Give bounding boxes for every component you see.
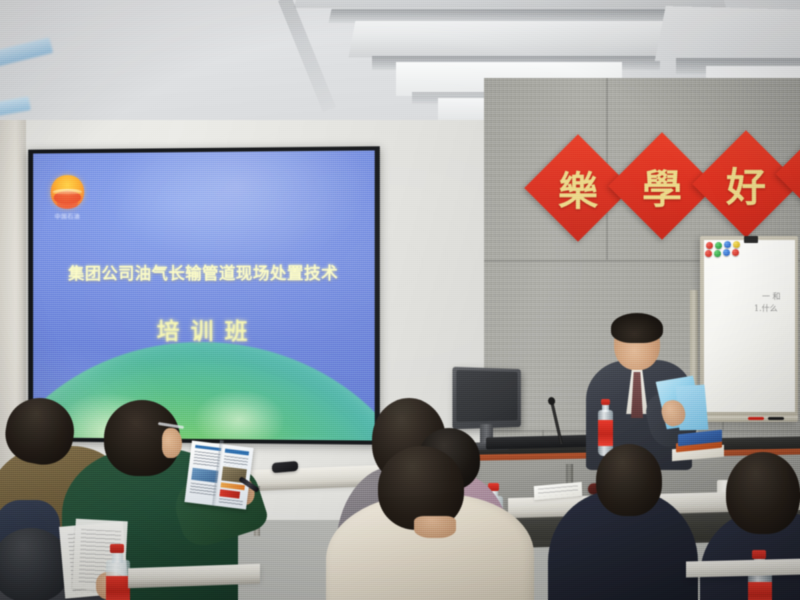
attendee-green-sweater-face [162, 428, 182, 458]
banner-character-1: 樂 [558, 159, 598, 217]
water-bottle-right-cap [752, 550, 766, 559]
attendee-cream-jacket-neck [414, 516, 456, 538]
water-bottle-left-label [106, 576, 130, 600]
projected-slide: 中国石油 集团公司油气长输管道现场处置技术 培训班 [33, 150, 375, 440]
training-room-photo: 中国石油 集团公司油气长输管道现场处置技术 培训班 樂 學 好 一 和 1.什么 [0, 0, 800, 600]
slide-subtitle: 培训班 [33, 312, 375, 347]
water-bottle-right-label [748, 582, 772, 600]
water-bottle-left-neck [112, 552, 123, 563]
magnet-red [706, 242, 713, 249]
magnet-red-3 [732, 249, 739, 256]
attendee-dark-suit-right-head [726, 452, 800, 534]
magnet-yellow [733, 241, 740, 248]
whiteboard-clip [744, 236, 758, 243]
lcd-monitor [452, 367, 520, 429]
ceiling-light-panel-left-2 [0, 96, 31, 117]
water-bottle-podium-neck [602, 404, 609, 412]
whiteboard-text-1: 一 和 [762, 292, 781, 301]
slide-title: 集团公司油气长输管道现场处置技术 [33, 260, 375, 285]
cnpc-logo: 中国石油 [47, 175, 88, 221]
attendee-dark-suit-mid-head [596, 444, 662, 516]
ceiling-light-panel-left [0, 37, 53, 67]
water-bottle-podium-cap [601, 399, 610, 405]
water-bottle-left-cap [110, 544, 124, 553]
cnpc-logo-text: 中国石油 [47, 212, 88, 221]
cnpc-sunburst-icon [51, 175, 84, 209]
slide-globe-graphic [33, 341, 375, 440]
whiteboard-marker-black [768, 417, 784, 420]
projection-screen: 中国石油 集团公司油气长输管道现场处置技术 培训班 [28, 146, 380, 444]
presenter-hair [611, 313, 663, 343]
magnet-blue-2 [723, 249, 730, 256]
water-bottle-podium-label [598, 420, 613, 446]
whiteboard-text-2: 1.什么 [754, 304, 778, 313]
banner-character-3: 好 [726, 155, 766, 213]
magnet-green [715, 242, 722, 249]
banner-character-2: 學 [642, 157, 682, 215]
attendee-table-front-right [686, 559, 800, 578]
magnet-green-2 [714, 250, 721, 257]
whiteboard-surface: 一 和 1.什么 [704, 240, 795, 412]
whiteboard-marker-red [748, 417, 764, 420]
whiteboard: 一 和 1.什么 [700, 236, 798, 422]
magnet-red-2 [705, 250, 712, 257]
magnet-blue [724, 241, 731, 248]
